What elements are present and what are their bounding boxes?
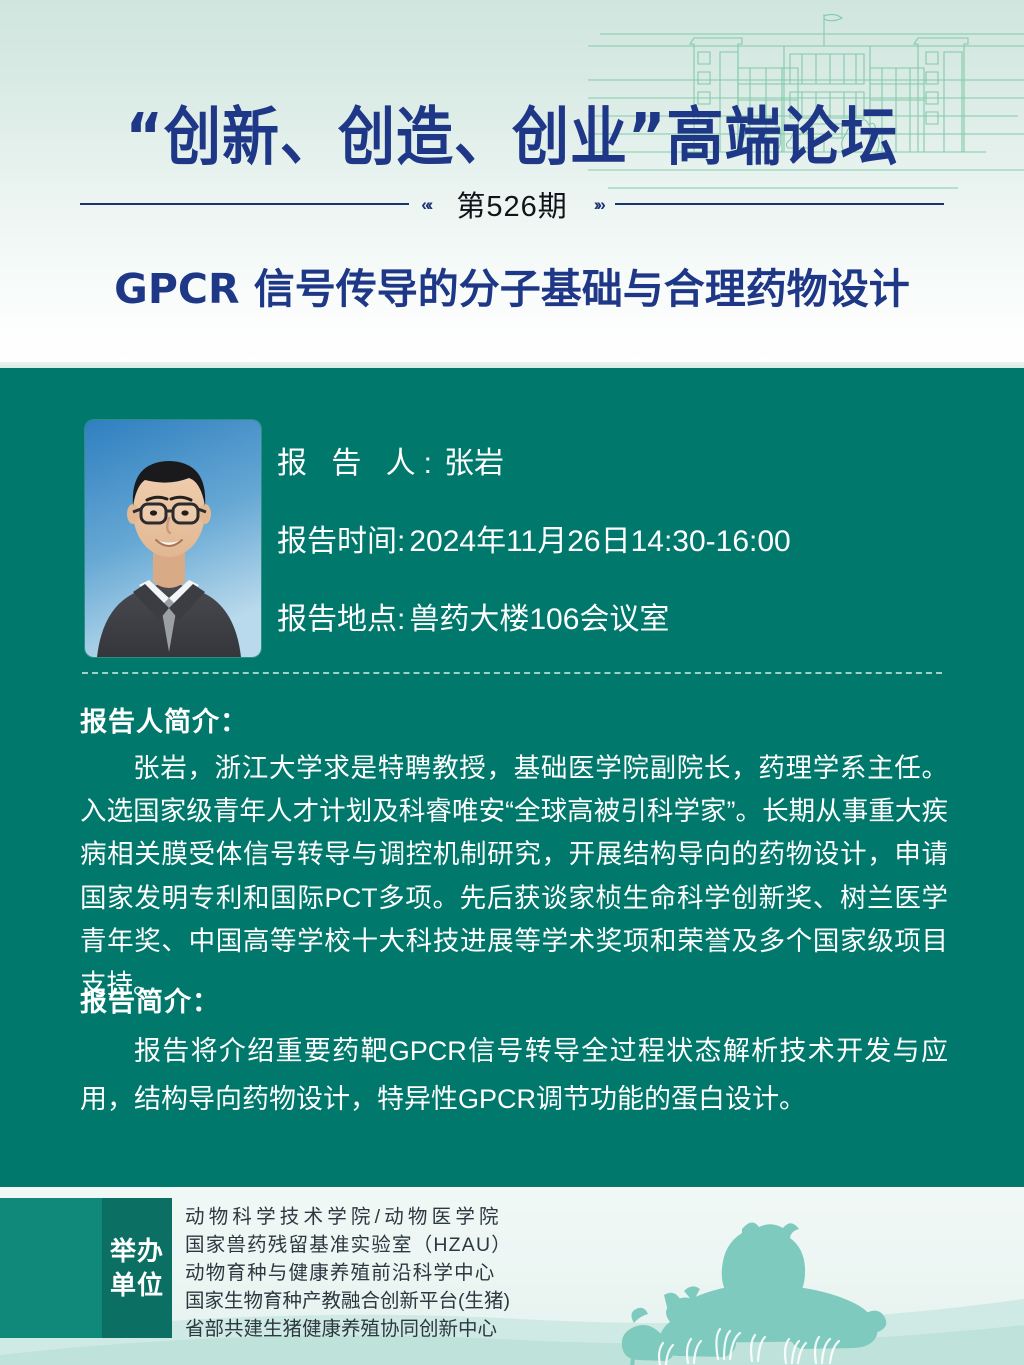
bio-heading: 报告人简介： (80, 700, 948, 739)
abstract-text: 报告将介绍重要药靶GPCR信号转导全过程状态解析技术开发与应用，结构导向药物设计… (80, 1027, 948, 1123)
list-item: 国家兽药残留基准实验室（HZAU） (185, 1231, 705, 1259)
speaker-name: 张岩 (444, 438, 504, 482)
time-value: 2024年11月26日14:30-16:00 (409, 516, 790, 560)
lecture-title: GPCR 信号传导的分子基础与合理药物设计 (0, 255, 1024, 315)
lecture-meta: 报 告 人: 张岩 报告时间: 2024年11月26日14:30-16:00 报… (277, 438, 977, 638)
chevron-left-icon: «‹ (421, 196, 430, 213)
list-item: 动物育种与健康养殖前沿科学中心 (185, 1259, 705, 1287)
poster-root: “创新、创造、创业”高端论坛 «‹ 第526期 ›» GPCR 信号传导的分子基… (0, 0, 1024, 1365)
organizer-badge-line-2: 单位 (110, 1268, 164, 1302)
issue-rule-left (80, 203, 409, 205)
dashed-divider (82, 672, 942, 674)
location-value: 兽药大楼106会议室 (409, 594, 669, 638)
speaker-bio-section: 报告人简介： 张岩，浙江大学求是特聘教授，基础医学院副院长，药理学系主任。入选国… (80, 700, 948, 1006)
speaker-portrait (85, 420, 261, 657)
list-item: 省部共建生猪健康养殖协同创新中心 (185, 1315, 705, 1343)
list-item: 国家生物育种产教融合创新平台(生猪) (185, 1287, 705, 1315)
location-label: 报告地点: (277, 594, 405, 638)
speaker-label: 报 告 人: (277, 438, 440, 482)
meta-row-speaker: 报 告 人: 张岩 (277, 438, 977, 482)
organizer-list: 动物科学技术学院/动物医学院 国家兽药残留基准实验室（HZAU） 动物育种与健康… (185, 1203, 705, 1343)
organizer-badge-label: 举办 单位 (102, 1198, 172, 1338)
issue-row: «‹ 第526期 ›» (80, 182, 944, 226)
issue-number: 第526期 (442, 183, 581, 225)
list-item: 动物科学技术学院/动物医学院 (185, 1203, 705, 1231)
abstract-section: 报告简介： 报告将介绍重要药靶GPCR信号转导全过程状态解析技术开发与应用，结构… (80, 980, 948, 1123)
issue-rule-right (615, 203, 944, 205)
bio-text: 张岩，浙江大学求是特聘教授，基础医学院副院长，药理学系主任。入选国家级青年人才计… (80, 747, 948, 1006)
organizer-badge-line-1: 举办 (110, 1234, 164, 1268)
meta-row-location: 报告地点: 兽药大楼106会议室 (277, 594, 977, 638)
organizer-badge-backdrop (0, 1198, 102, 1338)
poster-header: “创新、创造、创业”高端论坛 «‹ 第526期 ›» GPCR 信号传导的分子基… (0, 0, 1024, 368)
forum-title: “创新、创造、创业”高端论坛 (0, 86, 1024, 178)
abstract-heading: 报告简介： (80, 980, 948, 1019)
chevron-right-icon: ›» (594, 196, 603, 213)
time-label: 报告时间: (277, 516, 405, 560)
meta-row-time: 报告时间: 2024年11月26日14:30-16:00 (277, 516, 977, 560)
